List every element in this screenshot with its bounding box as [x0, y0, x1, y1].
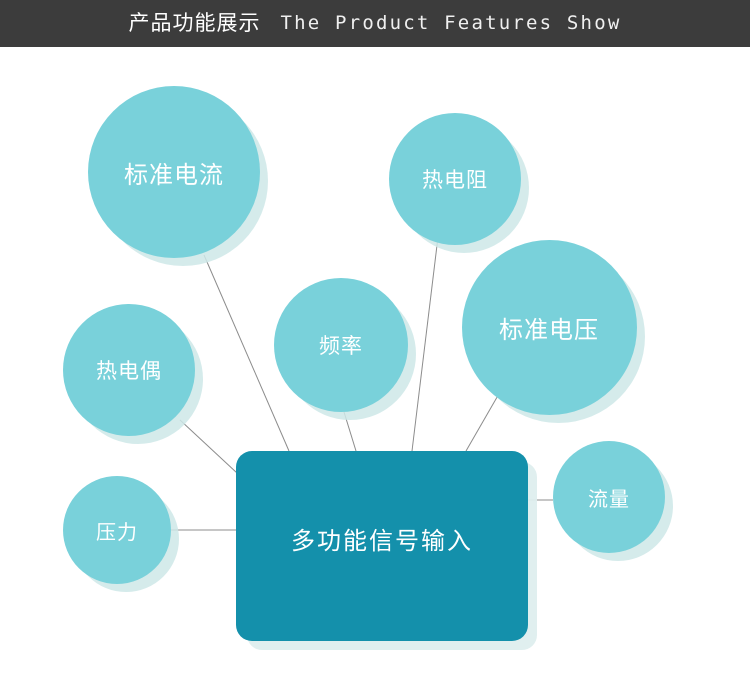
center-node-label: 多功能信号输入 [291, 521, 473, 556]
connector-line-standard-voltage [466, 392, 500, 451]
feature-diagram: 多功能信号输入 标准电流 热电阻 热电偶 频率 标准电压 压力 流量 [0, 47, 750, 673]
feature-node-standard-voltage[interactable]: 标准电压 [462, 240, 637, 415]
feature-node-rtd[interactable]: 热电阻 [389, 113, 521, 245]
feature-node-standard-current[interactable]: 标准电流 [88, 86, 260, 258]
connector-line-frequency [344, 412, 356, 451]
feature-node-label-thermocouple: 热电偶 [96, 355, 162, 385]
feature-node-label-flow: 流量 [588, 483, 630, 512]
header-bar: 产品功能展示 The Product Features Show [0, 0, 750, 47]
page-root: 产品功能展示 The Product Features Show 多功能信号输入… [0, 0, 750, 673]
center-node-multifunction-signal-input[interactable]: 多功能信号输入 [236, 451, 528, 641]
feature-node-label-pressure: 压力 [96, 516, 138, 545]
connector-line-thermocouple [180, 420, 237, 473]
page-title-english: The Product Features Show [281, 14, 622, 33]
connector-line-rtd [412, 237, 438, 451]
feature-node-label-standard-current: 标准电流 [124, 155, 224, 190]
feature-node-label-standard-voltage: 标准电压 [499, 310, 599, 345]
feature-node-thermocouple[interactable]: 热电偶 [63, 304, 195, 436]
feature-node-frequency[interactable]: 频率 [274, 278, 408, 412]
feature-node-pressure[interactable]: 压力 [63, 476, 171, 584]
feature-node-flow[interactable]: 流量 [553, 441, 665, 553]
feature-node-label-rtd: 热电阻 [422, 164, 488, 194]
feature-node-label-frequency: 频率 [319, 330, 363, 360]
page-title-chinese: 产品功能展示 [129, 13, 261, 34]
